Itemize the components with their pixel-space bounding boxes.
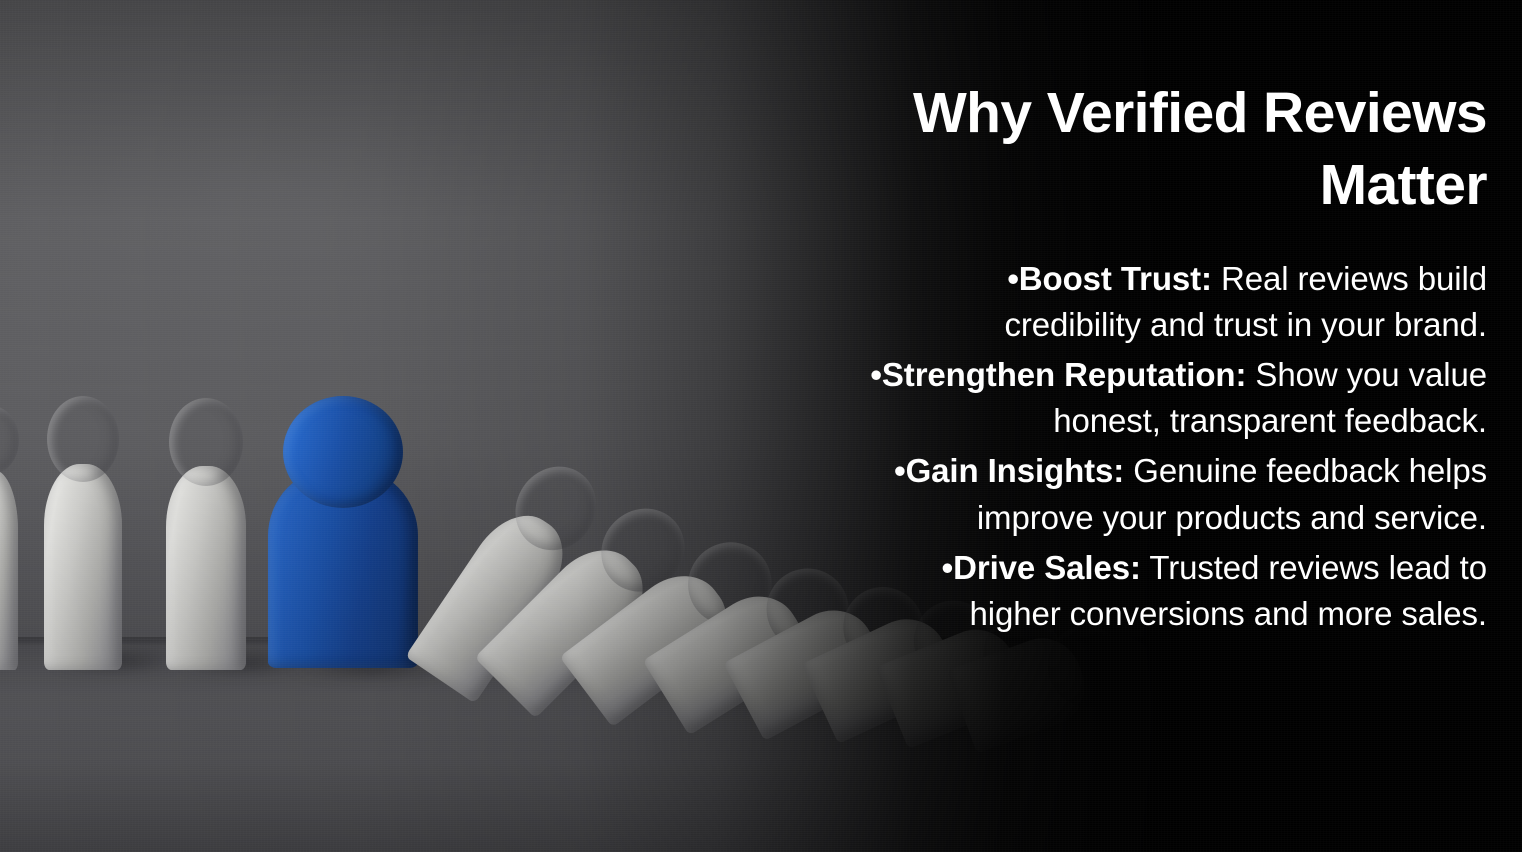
list-item: •Gain Insights: Genuine feedback helps i…: [867, 448, 1487, 540]
bullet-marker: •: [1007, 260, 1018, 297]
bullet-marker: •: [894, 452, 905, 489]
bullet-marker: •: [870, 356, 881, 393]
list-item: •Strengthen Reputation: Show you value h…: [867, 352, 1487, 444]
bullet-lead-label: Drive Sales:: [953, 549, 1141, 586]
text-panel: Why Verified Reviews Matter •Boost Trust…: [867, 78, 1487, 641]
promotional-slide: Why Verified Reviews Matter •Boost Trust…: [0, 0, 1522, 852]
list-item: •Boost Trust: Real reviews build credibi…: [867, 256, 1487, 348]
benefits-list: •Boost Trust: Real reviews build credibi…: [867, 256, 1487, 638]
page-title: Why Verified Reviews Matter: [867, 78, 1487, 222]
list-item: •Drive Sales: Trusted reviews lead to hi…: [867, 545, 1487, 637]
bullet-marker: •: [942, 549, 953, 586]
bullet-lead-label: Strengthen Reputation:: [882, 356, 1246, 393]
bullet-lead-label: Gain Insights:: [906, 452, 1125, 489]
bullet-lead-label: Boost Trust:: [1019, 260, 1212, 297]
